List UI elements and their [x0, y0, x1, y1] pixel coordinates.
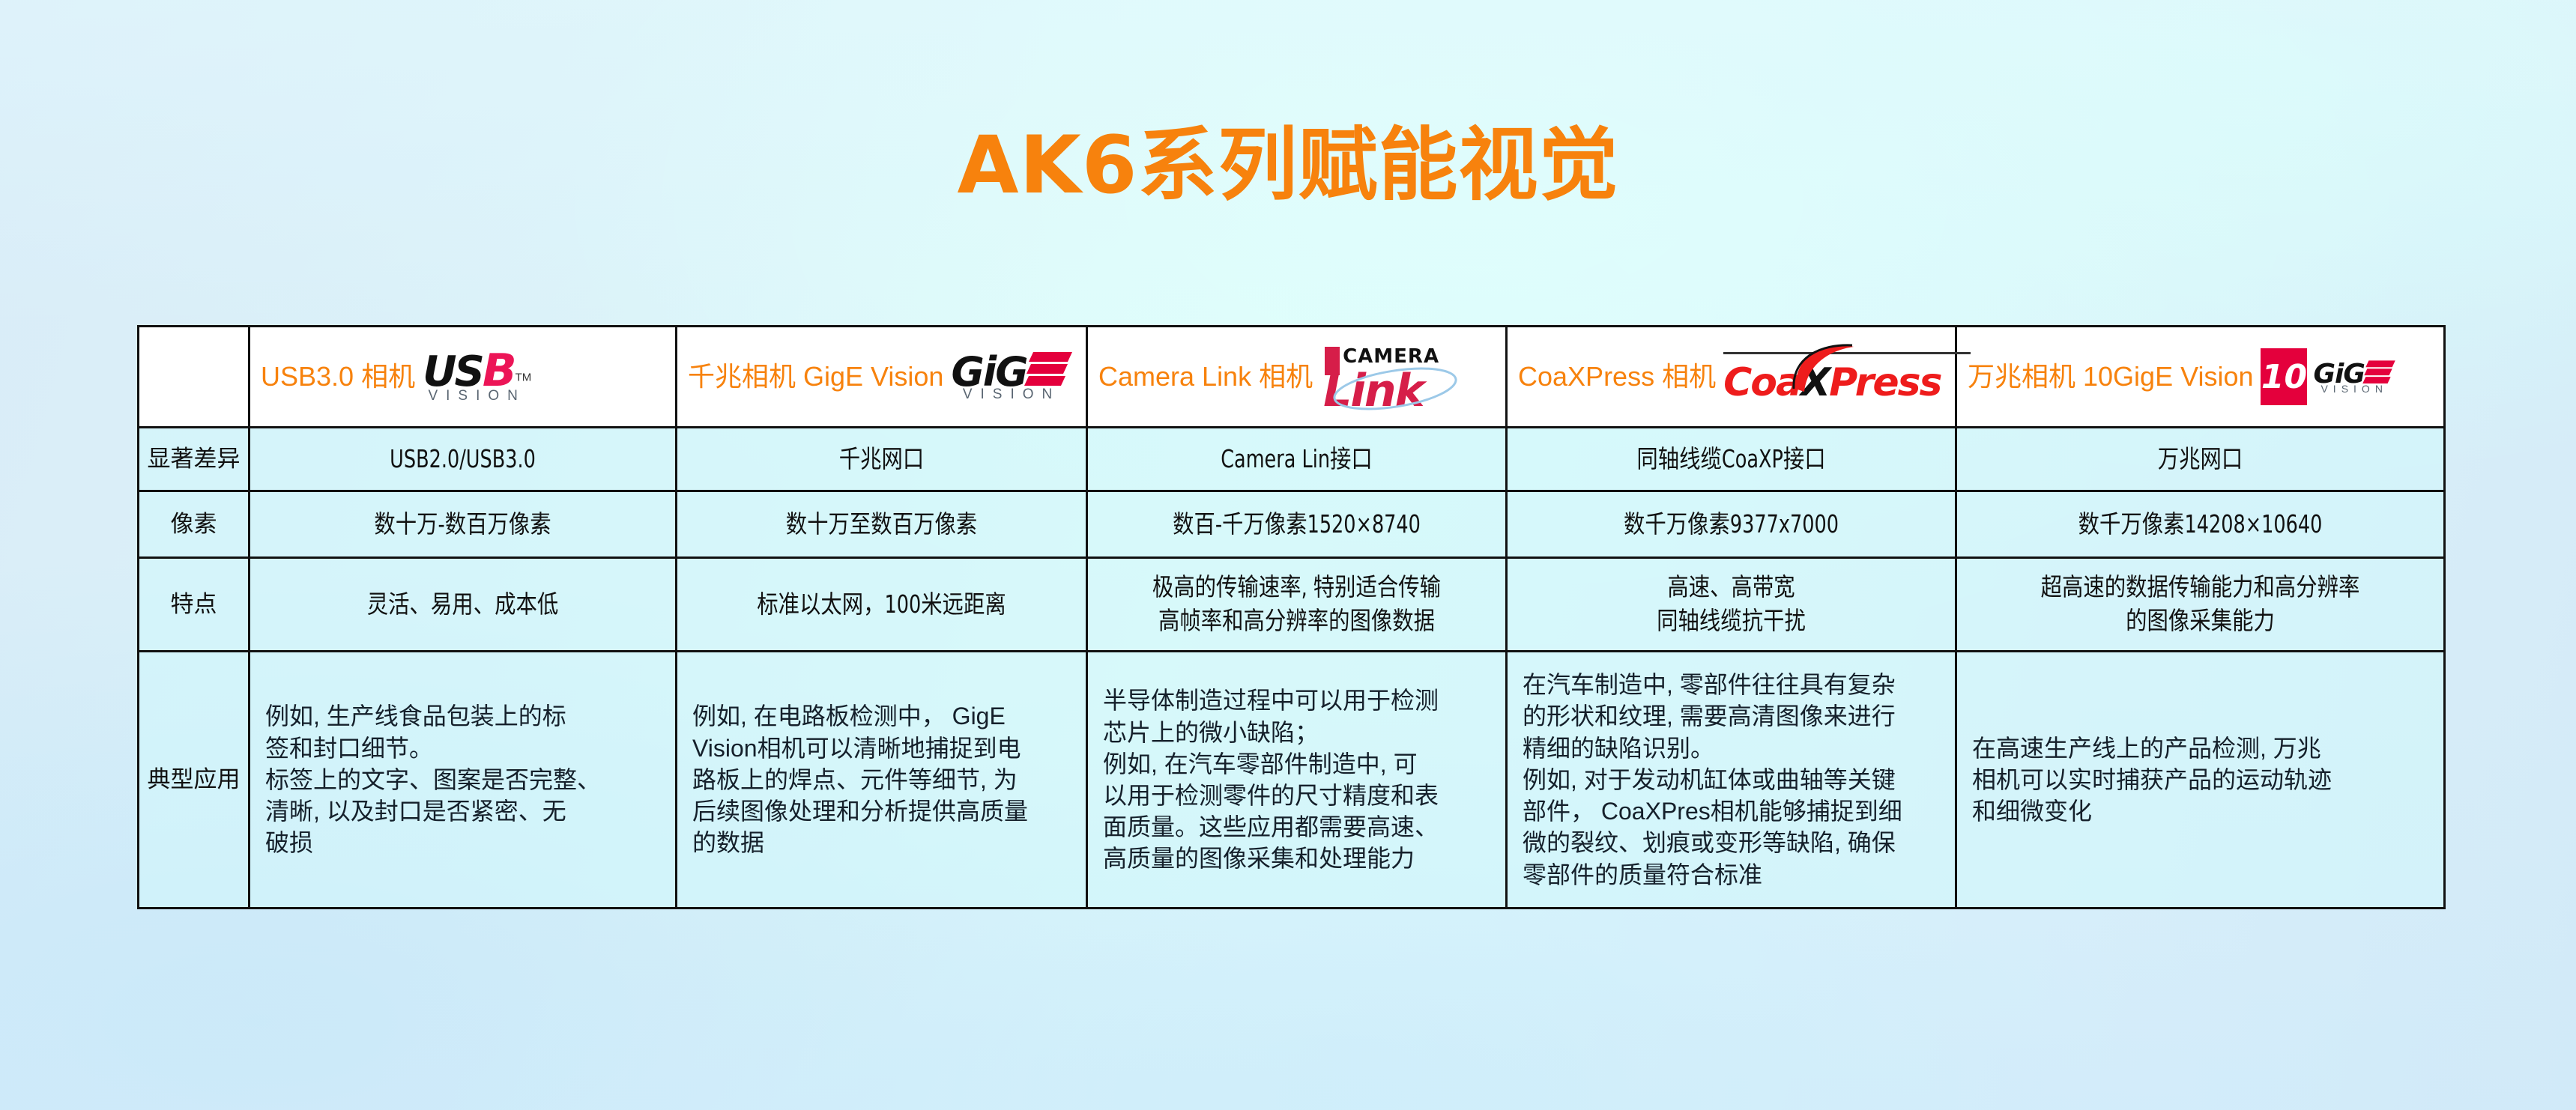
- table-row-features: 特点 灵活、易用、成本低 标准以太网，100米远距离 极高的传输速率, 特别适合…: [139, 558, 2445, 652]
- header-label-cameralink: Camera Link 相机: [1098, 361, 1313, 392]
- header-cell-usb3: USB3.0 相机 USBTM VISION: [250, 327, 677, 428]
- row-label-difference: 显著差异: [139, 428, 250, 491]
- cell-difference-cameralink: Camera Lin接口: [1087, 428, 1507, 491]
- row-label-features: 特点: [139, 558, 250, 652]
- cell-difference-usb3: USB2.0/USB3.0: [250, 428, 677, 491]
- header-label-coaxpress: CoaXPress 相机: [1518, 361, 1716, 392]
- gige-logo-text: GiG: [951, 354, 1027, 391]
- table-row-pixels: 像素 数十万-数百万像素 数十万至数百万像素 数百-千万像素1520×8740 …: [139, 491, 2445, 558]
- cell-difference-coaxpress: 同轴线缆CoaXP接口: [1507, 428, 1956, 491]
- cell-features-coaxpress: 高速、高带宽 同轴线缆抗干扰: [1507, 558, 1956, 652]
- cell-features-gige: 标准以太网，100米远距离: [677, 558, 1087, 652]
- cell-pixels-coaxpress: 数千万像素9377x7000: [1507, 491, 1956, 558]
- camera-comparison-table: USB3.0 相机 USBTM VISION 千兆相机 GigE Vision: [137, 325, 2446, 909]
- usb3-vision-logo: USBTM VISION: [423, 350, 531, 404]
- table-row-applications: 典型应用 例如, 生产线食品包装上的标 签和封口细节。 标签上的文字、图案是否完…: [139, 652, 2445, 909]
- table-row-difference: 显著差异 USB2.0/USB3.0 千兆网口 Camera Lin接口 同轴线…: [139, 428, 2445, 491]
- 10gige-logo-vision-text: VISION: [2313, 383, 2395, 395]
- page-title: AK6系列赋能视觉: [0, 126, 2576, 205]
- header-cell-gige: 千兆相机 GigE Vision GiG VISION: [677, 327, 1087, 428]
- cell-pixels-gige: 数十万至数百万像素: [677, 491, 1087, 558]
- cell-applications-gige: 例如, 在电路板检测中， GigE Vision相机可以清晰地捕捉到电 路板上的…: [677, 652, 1087, 909]
- camera-link-logo: CAMERA Link: [1320, 342, 1463, 411]
- cell-pixels-tengige: 数千万像素14208×10640: [1956, 491, 2445, 558]
- header-label-tengige: 万兆相机 10GigE Vision: [1968, 361, 2253, 392]
- gige-vision-logo: GiG VISION: [951, 351, 1071, 403]
- 10gige-logo-badge: 10: [2261, 348, 2307, 405]
- cell-features-usb3: 灵活、易用、成本低: [250, 558, 677, 652]
- cell-pixels-cameralink: 数百-千万像素1520×8740: [1087, 491, 1507, 558]
- header-cell-coaxpress: CoaXPress 相机 CoaXPress: [1507, 327, 1956, 428]
- cell-pixels-usb3: 数十万-数百万像素: [250, 491, 677, 558]
- table-header-row: USB3.0 相机 USBTM VISION 千兆相机 GigE Vision: [139, 327, 2445, 428]
- usb3-logo-tm: TM: [515, 371, 532, 383]
- comparison-table-wrapper: USB3.0 相机 USBTM VISION 千兆相机 GigE Vision: [137, 325, 2443, 909]
- 10gige-logo-badge-text: 10: [2261, 358, 2307, 396]
- cell-applications-cameralink: 半导体制造过程中可以用于检测 芯片上的微小缺陷； 例如, 在汽车零部件制造中, …: [1087, 652, 1507, 909]
- cell-difference-gige: 千兆网口: [677, 428, 1087, 491]
- gige-logo-e-bars: [1024, 351, 1072, 388]
- cell-features-cameralink: 极高的传输速率, 特别适合传输 高帧率和高分辨率的图像数据: [1087, 558, 1507, 652]
- coaxpress-logo: CoaXPress: [1723, 352, 1971, 402]
- header-label-usb3: USB3.0 相机: [261, 361, 415, 392]
- gige-logo-vision-text: VISION: [951, 386, 1071, 403]
- row-label-pixels: 像素: [139, 491, 250, 558]
- header-label-gige: 千兆相机 GigE Vision: [688, 361, 943, 392]
- cell-applications-tengige: 在高速生产线上的产品检测, 万兆 相机可以实时捕获产品的运动轨迹 和细微变化: [1956, 652, 2445, 909]
- usb3-logo-vision-text: VISION: [423, 388, 531, 404]
- cell-applications-usb3: 例如, 生产线食品包装上的标 签和封口细节。 标签上的文字、图案是否完整、 清晰…: [250, 652, 677, 909]
- camera-link-logo-swoosh: [1320, 342, 1463, 411]
- cell-features-tengige: 超高速的数据传输能力和高分辨率 的图像采集能力: [1956, 558, 2445, 652]
- 10gige-logo-e-bars: [2362, 360, 2395, 385]
- header-corner-cell: [139, 327, 250, 428]
- cell-applications-coaxpress: 在汽车制造中, 零部件往往具有复杂 的形状和纹理, 需要高清图像来进行 精细的缺…: [1507, 652, 1956, 909]
- row-label-applications: 典型应用: [139, 652, 250, 909]
- header-cell-tengige: 万兆相机 10GigE Vision 10 GiG: [1956, 327, 2445, 428]
- 10gige-vision-logo: 10 GiG VISION: [2261, 348, 2395, 405]
- cell-difference-tengige: 万兆网口: [1956, 428, 2445, 491]
- header-cell-cameralink: Camera Link 相机 CAMERA Link: [1087, 327, 1507, 428]
- coaxpress-logo-swoosh: [1782, 342, 1872, 398]
